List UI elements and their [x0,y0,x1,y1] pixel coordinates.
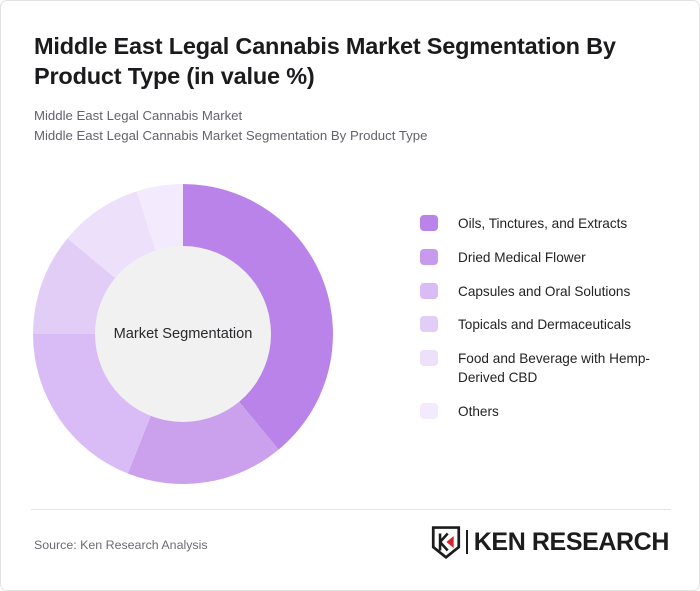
legend-item-label: Food and Beverage with Hemp-Derived CBD [458,349,680,388]
legend-item-label: Oils, Tinctures, and Extracts [458,214,627,233]
legend-item-label: Dried Medical Flower [458,248,586,267]
legend-item[interactable]: Capsules and Oral Solutions [420,282,680,301]
chart-card: Middle East Legal Cannabis Market Segmen… [0,0,700,591]
legend-item[interactable]: Others [420,402,680,421]
donut-center-hole [95,246,271,422]
legend-item[interactable]: Food and Beverage with Hemp-Derived CBD [420,349,680,388]
ken-research-logo: KEN RESEARCH [429,525,669,559]
legend-swatch [420,215,438,231]
legend-item-label: Capsules and Oral Solutions [458,282,630,301]
legend-item[interactable]: Dried Medical Flower [420,248,680,267]
legend-swatch [420,350,438,366]
footer-divider [31,509,671,510]
page-title: Middle East Legal Cannabis Market Segmen… [34,31,659,91]
chart-header: Middle East Legal Cannabis Market Segmen… [34,31,659,146]
legend-swatch [420,283,438,299]
subtitle-market: Middle East Legal Cannabis Market [34,106,659,126]
logo-separator [466,530,468,554]
ken-research-logo-mark [429,525,463,559]
legend-item[interactable]: Oils, Tinctures, and Extracts [420,214,680,233]
legend-swatch [420,249,438,265]
legend-swatch [420,316,438,332]
source-note: Source: Ken Research Analysis [34,538,208,552]
legend-swatch [420,403,438,419]
legend-item[interactable]: Topicals and Dermaceuticals [420,315,680,334]
chart-area: Market Segmentation Oils, Tinctures, and… [1,166,700,496]
donut-svg [33,184,333,484]
legend-item-label: Topicals and Dermaceuticals [458,315,631,334]
chart-legend: Oils, Tinctures, and ExtractsDried Medic… [420,214,680,436]
subtitle-block: Middle East Legal Cannabis Market Middle… [34,106,659,146]
legend-item-label: Others [458,402,499,421]
donut-chart: Market Segmentation [33,184,333,484]
subtitle-segmentation: Middle East Legal Cannabis Market Segmen… [34,126,659,146]
logo-wordmark: KEN RESEARCH [474,528,669,557]
